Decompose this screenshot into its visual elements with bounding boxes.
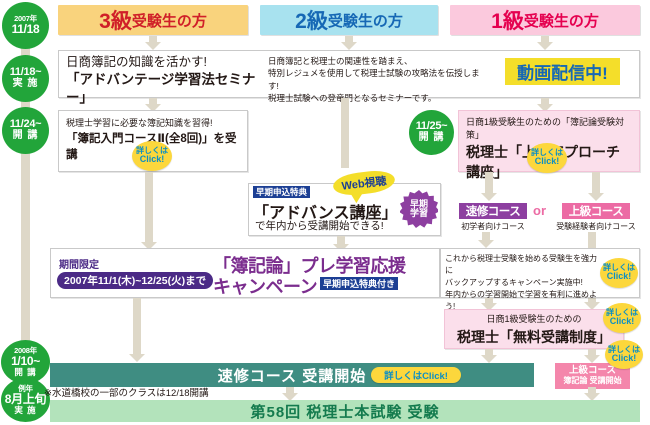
or-label: or [533,203,546,218]
jokyu-course-start-click-button[interactable]: 詳しくは Click! [605,340,643,369]
web-viewing-label: Web視聴 [341,172,388,193]
click-label-b: Click! [612,354,637,363]
click-label-b: Click! [535,157,560,166]
jokyu-approach-click-button[interactable]: 詳しくは Click! [527,143,567,173]
arrow-jokyu-start-to-exam [584,387,600,401]
sokushu-start-bar: 速修コース 受講開始 [50,363,534,387]
campaign-title-line2: キャンペーン [213,273,317,299]
seminar-desc-line1: 日商簿記と税理士の関連性を踏まえ、 [268,55,488,67]
video-streaming-badge: 動画配信中! [505,58,620,85]
sokushu-course-tag-label: 速修コース [466,203,520,219]
seminar-desc-line3: 税理士試験への登竜門となるセミナーです。 [268,92,488,104]
jokyu-course-start-line2: 簿記論 受講開始 [563,377,621,386]
jokyu-approach-line1: 日商1級受験生のための「簿記論受験対策」 [459,111,639,141]
campaign-description: これから税理士受験を始める受験生を強力に バックアップするキャンペーン実施中! … [445,253,600,313]
early-application-benefit-tag: 早期申込特典 [253,186,310,198]
timeline-marker-5-line3: 実 施 [14,406,36,415]
timeline-marker-3-line3: 開 講 [13,131,39,142]
arrow-sokushu-to-exam [282,387,298,401]
timeline-marker-2-line3: 実 施 [13,79,39,90]
sokushu-note: ※水道橋校の一部のクラスは12/18開講 [44,387,209,400]
jokyu-course-subtitle-wrap: 受験経験者向けコース [555,221,637,232]
early-study-line2: 学習 [410,209,428,218]
header-grade1-big: 1級 [491,5,524,35]
sokushu-course-subtitle: 初学者向けコース [452,221,534,232]
flowchart-root: 2007年 11/18 11/18~ 実 施 11/24~ 開 講 2008年 … [0,0,650,425]
boki-intro-course-click-button[interactable]: 詳しくは Click! [132,141,172,171]
timeline-marker-4-line2: 1/10~ [11,355,40,368]
campaign-limited-text: 期間限定 [59,260,99,271]
header-grade3-big: 3級 [99,5,132,35]
timeline-marker-4-line3: 開 講 [14,368,36,377]
campaign-desc-line1: これから税理士受験を始める受験生を強力に [445,253,600,277]
advance-course-subtitle-text: で年内から受講開始できる! [255,220,384,232]
free-enrollment-system-box[interactable]: 日商1級受験生のための 税理士「無料受講制度」 [444,309,624,349]
jokyu-course-tag-label: 上級コース [569,203,623,219]
or-label-text: or [533,203,546,218]
free-enrollment-line2: 税理士「無料受講制度」 [445,326,623,347]
timeline-marker-1: 2007年 11/18 [2,2,49,49]
header-grade2: 2級 受験生の方 [260,5,438,35]
campaign-benefit-label: 早期申込特典付き [323,277,395,290]
seminar-description: 日商簿記と税理士の関連性を踏まえ、 特別レジュメを使用して税理士試験の攻略法を伝… [268,55,488,104]
arrow-down-grade1 [537,36,553,50]
arrow-down-grade3 [145,36,161,50]
click-label-b: Click! [607,272,632,281]
final-exam-bar-label: 第58回 税理士本試験 受験 [250,401,439,422]
arrow-down-grade2 [341,36,357,50]
arrow-sokushu-to-campaign [478,232,494,248]
free-enrollment-click-button[interactable]: 詳しくは Click! [603,303,641,333]
arrow-free-system-to-sokushu-bar [481,349,497,363]
seminar-desc-line2: 特別レジュメを使用して税理士試験の攻略法を伝授します! [268,67,488,92]
header-grade3: 3級 受験生の方 [58,5,248,35]
advance-course-subtitle: で年内から受講開始できる! [255,219,384,234]
campaign-limited-label: 期間限定 [59,256,99,271]
timeline-marker-5-line2: 8月上旬 [5,393,46,406]
seminar-title-grade3: 日商簿記の知識を活かす! 「アドバンテージ学習法セミナー」 [66,54,256,107]
seminar-title-line2: 「アドバンテージ学習法セミナー」 [66,71,256,107]
jokyu-course-tag[interactable]: 上級コース [562,203,630,219]
line-boki-to-campaign [145,172,153,240]
sokushu-course-subtitle-wrap: 初学者向けコース [452,221,534,232]
seminar-title-line1: 日商簿記の知識を活かす! [66,54,256,71]
header-grade3-small: 受験生の方 [132,10,207,31]
arrow-free-system-to-jokyu-start [584,349,600,363]
sokushu-start-bar-label: 速修コース 受講開始 [218,365,366,386]
arrow-to-jokyu-course [588,172,604,202]
header-grade2-small: 受験生の方 [328,10,403,31]
video-streaming-badge-label: 動画配信中! [517,59,608,84]
arrow-head-campaign-sokushu [129,348,145,362]
header-grade1-small: 受験生の方 [524,10,599,31]
header-grade1: 1級 受験生の方 [450,5,640,35]
early-application-benefit-label: 早期申込特典 [256,186,307,198]
campaign-benefit-tag: 早期申込特典付き [320,277,398,290]
timeline-marker-5: 例年 8月上旬 実 施 [1,378,50,422]
sokushu-note-text: ※水道橋校の一部のクラスは12/18開講 [44,388,209,399]
timeline-marker-2: 11/18~ 実 施 [2,55,49,102]
jokyu-course-subtitle: 受験経験者向けコース [555,221,637,232]
timeline-marker-3: 11/24~ 開 講 [2,107,49,154]
arrow-to-sokushu-course [481,172,497,202]
sokushu-start-click-label: 詳しくはClick! [384,368,448,382]
header-grade2-big: 2級 [295,5,328,35]
timeline-marker-nov25: 11/25~ 開 講 [409,110,454,155]
line-grade2-to-advance [341,98,349,168]
sokushu-course-tag[interactable]: 速修コース [459,203,527,219]
sokushu-start-click-button[interactable]: 詳しくはClick! [371,367,461,383]
timeline-marker-nov25-line3: 開 講 [419,133,445,144]
boki-intro-course-line1: 税理士学習に必要な簿記知識を習得! [59,111,247,130]
line-campaign-to-sokushu-bar [133,298,141,350]
final-exam-bar: 第58回 税理士本試験 受験 [50,400,640,422]
timeline-marker-1-line2: 11/18 [12,23,40,36]
click-label-b: Click! [140,155,165,164]
free-enrollment-line1: 日商1級受験生のための [445,310,623,326]
campaign-period-pill: 2007年11/1(木)~12/25(火)まで [57,272,213,289]
campaign-title-line2-text: キャンペーン [213,277,317,297]
campaign-period-text: 2007年11/1(木)~12/25(火)まで [64,273,206,288]
click-label-b: Click! [610,317,635,326]
campaign-click-button[interactable]: 詳しくは Click! [600,258,638,288]
campaign-desc-line2: バックアップするキャンペーン実施中! [445,277,600,289]
